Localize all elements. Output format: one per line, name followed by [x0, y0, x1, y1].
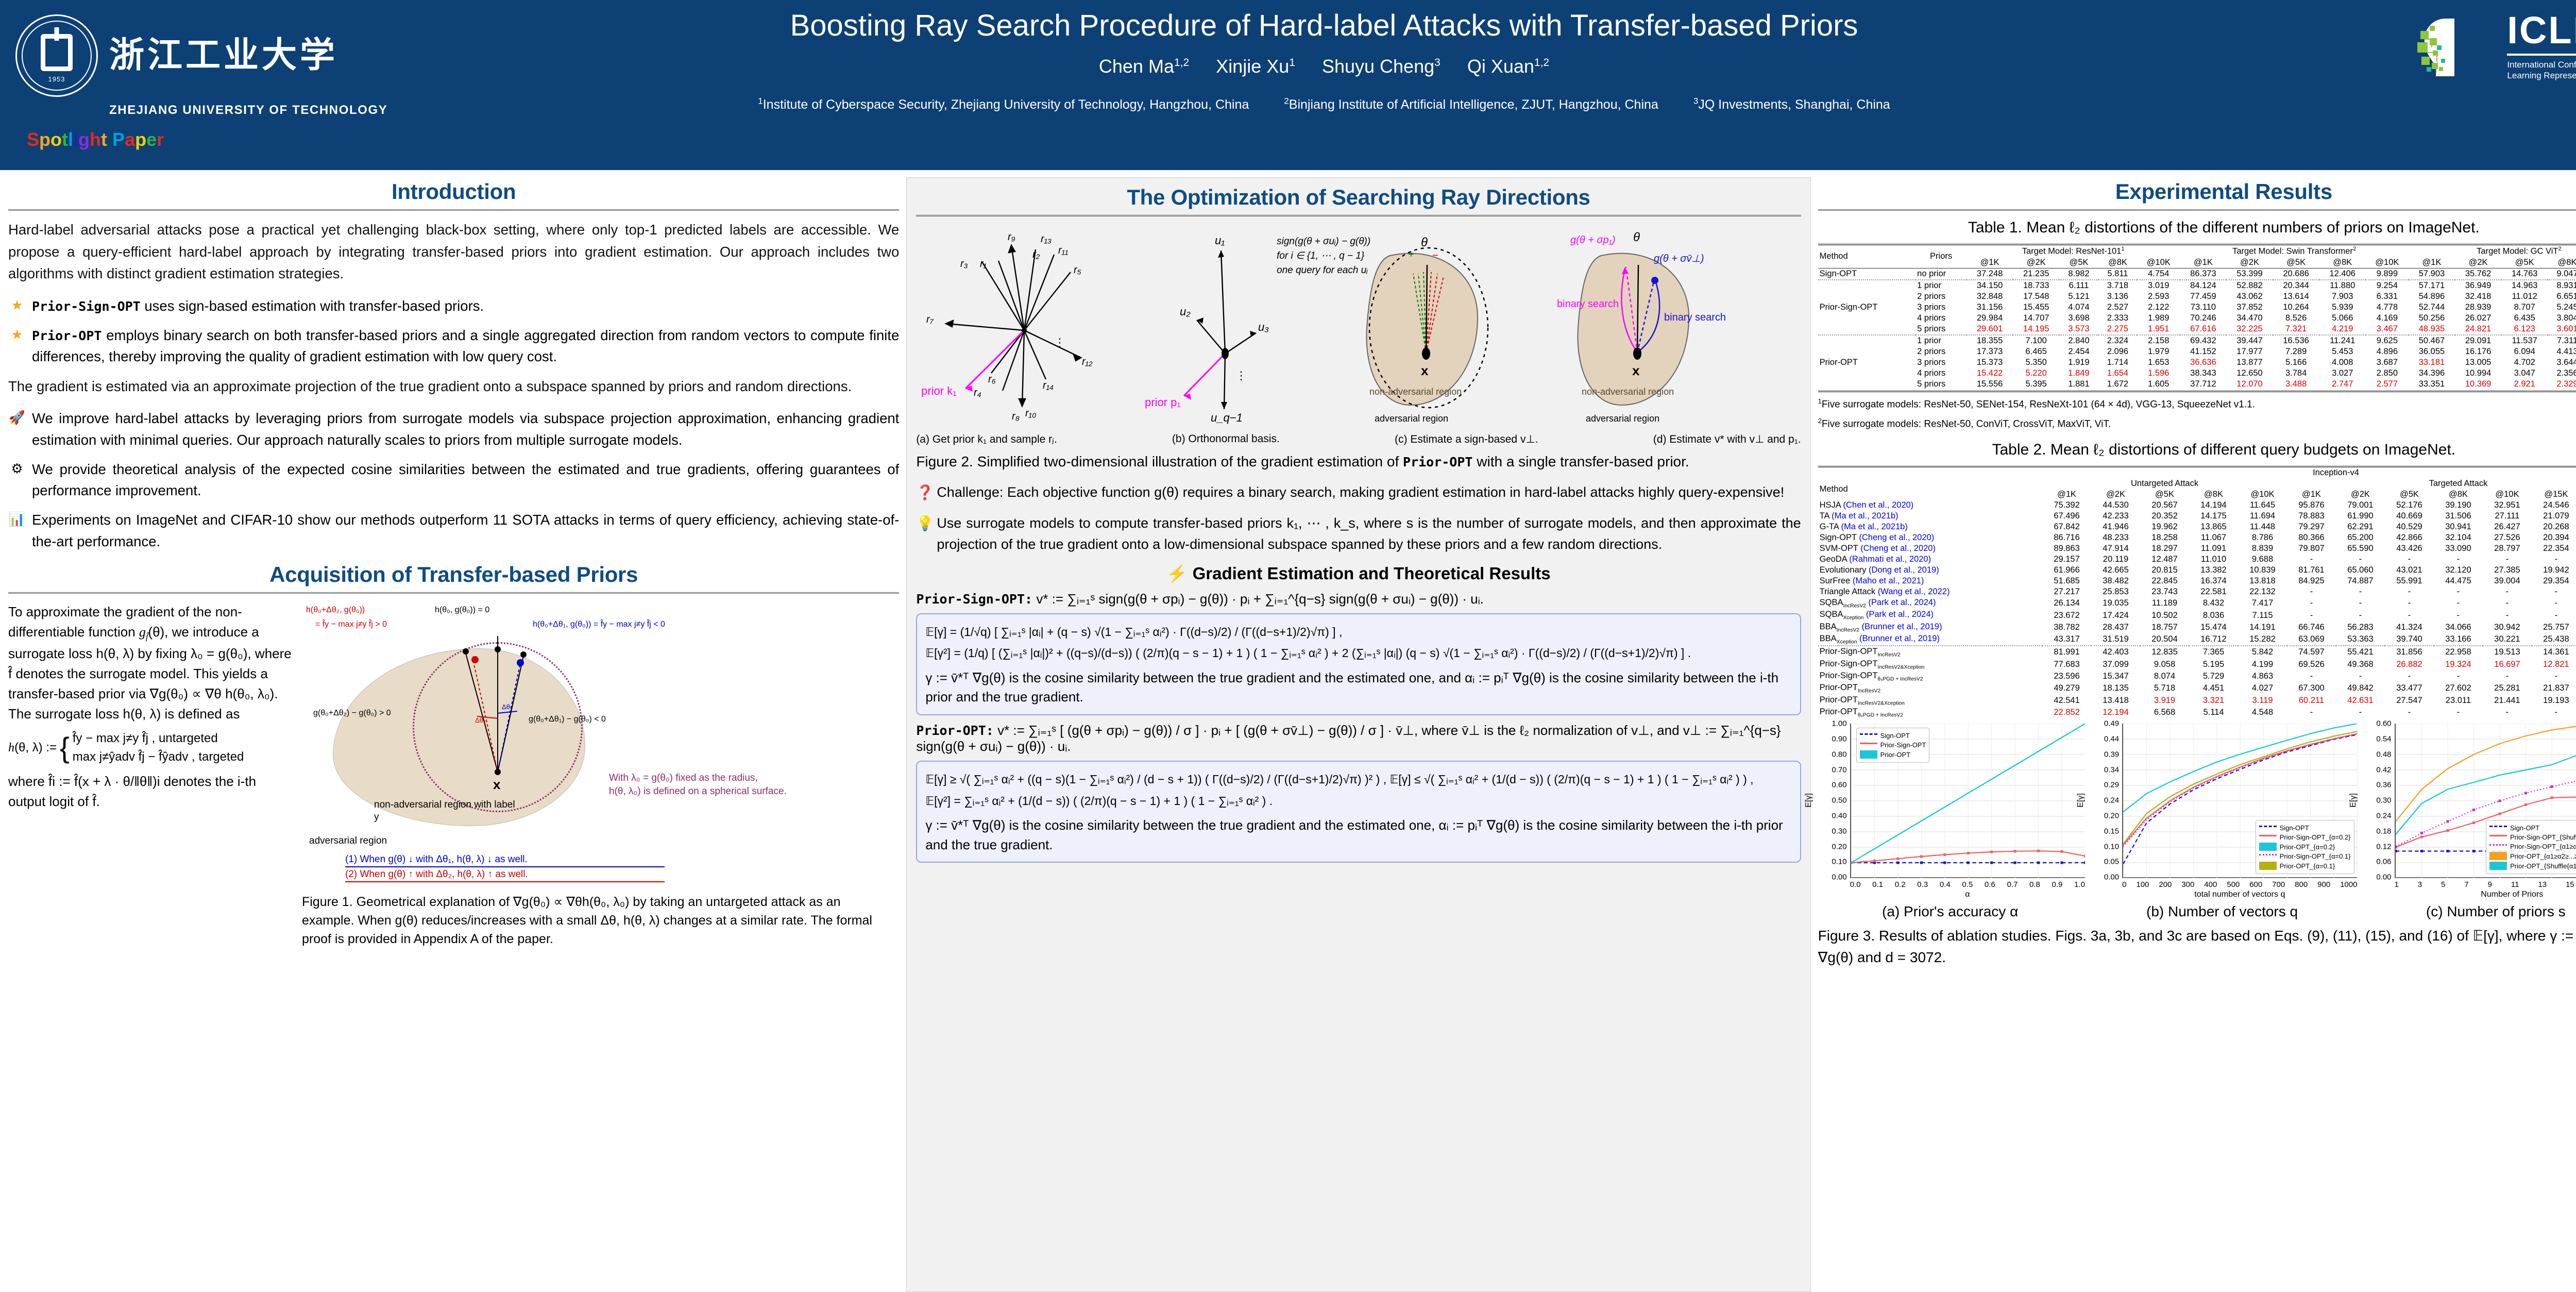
- contribution-bullet: ⚙We provide theoretical analysis of the …: [8, 459, 899, 501]
- table-cell: 15.422: [1967, 368, 2013, 379]
- table-cell: 5.453: [2319, 346, 2366, 357]
- table-cell: 3.718: [2098, 280, 2137, 291]
- y-tick: 0.00: [2104, 873, 2119, 882]
- table-cell: -: [2287, 609, 2336, 621]
- table-cell: -: [2336, 554, 2385, 565]
- table-cell: 21.837: [2532, 682, 2576, 694]
- table-cell: 30.941: [2434, 522, 2483, 532]
- table-cell: 6.331: [2366, 291, 2409, 302]
- table-cell: -: [2385, 707, 2434, 718]
- table-cell: 16.536: [2273, 335, 2319, 346]
- table-cell: 40.669: [2385, 511, 2434, 522]
- table-cell: 17.548: [2013, 291, 2059, 302]
- table-cell: 37.712: [2180, 379, 2226, 390]
- university-name-en: ZHEJIANG UNIVERSITY OF TECHNOLOGY: [109, 103, 453, 118]
- legend-swatch: [2259, 843, 2277, 851]
- table-cell: 33.181: [2409, 357, 2455, 368]
- idea-bullet: 💡 Use surrogate models to compute transf…: [916, 513, 1801, 555]
- table-cell: 33.351: [2409, 379, 2455, 390]
- table-cell: 38.343: [2180, 368, 2226, 379]
- y-tick: 0.34: [2104, 765, 2119, 774]
- legend-label: Prior-Sign-OPT: [1880, 741, 1926, 749]
- table-cell: 32.120: [2434, 565, 2483, 576]
- x-tick: 0.8: [2029, 880, 2040, 889]
- table-cell: 5.166: [2273, 357, 2319, 368]
- table-cell: 12.194: [2091, 707, 2140, 718]
- table-cell: 34.150: [1967, 280, 2013, 291]
- svg-text:sign(g(θ + σu: sign(g(θ + σu: [1277, 236, 1334, 247]
- table-cell: 27.111: [2483, 511, 2532, 522]
- method-name: Prior-Sign-OPTIncResV2: [1820, 647, 1901, 656]
- table-cell: 13.818: [2238, 576, 2287, 586]
- fig1-label-purple-2: h(θ, λ₀) is defined on a spherical surfa…: [609, 785, 787, 798]
- affiliation: 3JQ Investments, Shanghai, China: [1693, 97, 1890, 112]
- svg-text:one query for each uᵢ: one query for each uᵢ: [1277, 265, 1368, 276]
- table-cell: 19.962: [2140, 522, 2189, 532]
- x-tick: 900: [2317, 880, 2330, 889]
- legend-label: Prior-Sign-OPT_{α=0.2}: [2280, 833, 2351, 841]
- table-row: SVM-OPT (Cheng et al., 2020)89.86347.914…: [1818, 543, 2576, 554]
- note-1-sup: 1: [1818, 397, 1822, 405]
- table-cell: 6.435: [2501, 313, 2548, 324]
- table-cell: 2.840: [2059, 335, 2098, 346]
- theorem-box-opt: 𝔼[γ] ≥ √( ∑ᵢ₌₁ˢ αᵢ² + ((q − s)(1 − ∑ᵢ₌₁ˢ…: [916, 761, 1801, 863]
- x-tick: 0.1: [1872, 880, 1883, 889]
- table-cell: 79.807: [2287, 543, 2336, 554]
- table-cell: 28.797: [2483, 543, 2532, 554]
- challenge-bullet: ❓ Challenge: Each objective function g(θ…: [916, 482, 1801, 504]
- table-cell: 2.122: [2137, 302, 2180, 313]
- legend-label: Prior-Sign-OPT_{Shuffle{α1,α2,...,αs}}: [2510, 833, 2576, 841]
- table-cell: 42.866: [2385, 532, 2434, 543]
- table-cell: 11.448: [2238, 522, 2287, 532]
- table-cell: 1.951: [2137, 324, 2180, 335]
- table-1-caption: Table 1. Mean ℓ₂ distortions of the diff…: [1818, 219, 2576, 237]
- table-1-budget-header: @5K: [2273, 257, 2319, 269]
- table-cell: 22.581: [2189, 586, 2238, 597]
- table-cell: -: [2532, 554, 2576, 565]
- svg-text:r₄: r₄: [974, 387, 981, 398]
- citation: (Brunner et al., 2019): [1859, 634, 1940, 643]
- table-cell: 27.602: [2434, 682, 2483, 694]
- legend-entry: Prior-OPT_{α=0.2}: [2259, 843, 2351, 851]
- svg-text:r₈: r₈: [1012, 411, 1020, 422]
- table-cell: 2.333: [2098, 313, 2137, 324]
- table-cell: 32.225: [2226, 324, 2273, 335]
- table-cell: 18.733: [2013, 280, 2059, 291]
- table-cell: 65.590: [2336, 543, 2385, 554]
- eq-box2-note: γ := v̄*ᵀ ∇g(θ) is the cosine similarity…: [925, 816, 1791, 854]
- method-name: SQBAXception: [1820, 610, 1864, 619]
- table-cell: 31.506: [2434, 511, 2483, 522]
- figure-2-subcaption: (d) Estimate v* with v⊥ and p₁.: [1653, 433, 1801, 446]
- table-cell: 41.946: [2091, 522, 2140, 532]
- table-cell: 38.482: [2091, 576, 2140, 586]
- table-cell: 4.778: [2366, 302, 2409, 313]
- svg-text:r₉: r₉: [1008, 231, 1015, 243]
- table-cell: 14.175: [2189, 511, 2238, 522]
- table-cell: 28.939: [2455, 302, 2501, 313]
- table-cell: 5.729: [2189, 670, 2238, 682]
- method-name: Prior-Sign-OPTIncResV2&Xception: [1820, 659, 1925, 668]
- equation-prior-sign-opt: Prior-Sign-OPT: v* := ∑ᵢ₌₁ˢ sign(g(θ + σ…: [916, 591, 1801, 607]
- method-name: Prior-OPTθ₀PGD + IncResV2: [1820, 707, 1903, 716]
- y-axis-label: E[γ]: [2076, 793, 2086, 808]
- table-cell: 44.475: [2434, 576, 2483, 586]
- table-cell: 13.877: [2226, 357, 2273, 368]
- x-tick: 7: [2464, 880, 2468, 889]
- y-tick: 0.12: [2376, 842, 2391, 851]
- table-cell: 15.347: [2091, 670, 2140, 682]
- table-cell: 48.233: [2091, 532, 2140, 543]
- table-cell: 12.070: [2226, 379, 2273, 390]
- eq-name-prior-sign-opt: Prior-Sign-OPT:: [916, 592, 1032, 607]
- fig1-label-red-1: h(θ₀+Δθ₂, g(θ₀)): [306, 605, 365, 615]
- table-cell: 55.421: [2336, 646, 2385, 658]
- table-cell: 9.688: [2238, 554, 2287, 565]
- acq-case-targeted: max j≠ŷadv f̂j − f̂ŷadv , targeted: [73, 748, 244, 766]
- legend-label: Sign-OPT: [1880, 732, 1910, 740]
- table-cell: 10.994: [2455, 368, 2501, 379]
- table-cell: 1.849: [2059, 368, 2098, 379]
- fig1-note-1: (1) When g(θ) ↓ with Δθ₁, h(θ, λ) ↓ as w…: [345, 854, 665, 867]
- table-row: Prior-Sign-OPTIncResV281.99142.40312.835…: [1818, 646, 2576, 658]
- method-name: Prior-OPTIncResV2: [1820, 683, 1881, 692]
- table-1-budget-header: @8K: [2098, 257, 2137, 269]
- table-row: Prior-OPTθ₀PGD + IncResV222.85212.1946.5…: [1818, 707, 2576, 718]
- eq-box1-line1: 𝔼[γ] = (1/√q) [ ∑ᵢ₌₁ˢ |αᵢ| + (q − s) √(1…: [925, 622, 1791, 643]
- table-cell: 56.283: [2336, 622, 2385, 633]
- table-cell: 2.356: [2548, 368, 2576, 379]
- table-1-group-header: Target Model: ResNet-1011: [1967, 245, 2180, 257]
- table-cell: 18.757: [2140, 622, 2189, 633]
- table-cell: -: [2336, 707, 2385, 718]
- table-cell: 1.989: [2137, 313, 2180, 324]
- svg-text:g(θ + σv̄⊥): g(θ + σv̄⊥): [1654, 253, 1704, 264]
- author-name: Qi Xuan1,2: [1467, 56, 1549, 77]
- table-row: 2 priors32.84817.5485.1213.1362.59377.45…: [1818, 291, 2576, 302]
- table-cell: 9.899: [2366, 268, 2409, 280]
- table-cell: 13.005: [2455, 357, 2501, 368]
- chart-icon: 📊: [8, 509, 26, 552]
- table-cell: 74.597: [2287, 646, 2336, 658]
- table-cell: -: [2287, 554, 2336, 565]
- table-cell: 35.762: [2455, 268, 2501, 280]
- legend-entry: Prior-OPT: [1860, 750, 1926, 759]
- table-cell: 22.852: [2042, 707, 2091, 718]
- table-cell: 3.321: [2189, 695, 2238, 707]
- table-cell: 5.066: [2319, 313, 2366, 324]
- table-cell: 25.281: [2483, 682, 2532, 694]
- x-axis-label: Number of Priors: [2395, 890, 2576, 899]
- legend-swatch: [2259, 854, 2277, 859]
- table-cell: 5.245: [2548, 302, 2576, 313]
- table-cell: 42.541: [2042, 695, 2091, 707]
- table-2-group-targeted: Targeted Attack: [2287, 478, 2576, 489]
- table-2: Inception-v4MethodUntargeted AttackTarge…: [1818, 466, 2576, 718]
- citation: (Brunner et al., 2019): [1862, 622, 1942, 631]
- star-icon: ★: [8, 325, 26, 367]
- table-cell: 9.625: [2366, 335, 2409, 346]
- table-cell: 23.596: [2042, 670, 2091, 682]
- table-cell: -: [2532, 597, 2576, 609]
- acq-case-untargeted: f̂y − max j≠y f̂j , untargeted: [73, 729, 244, 748]
- table-cell: 29.601: [1967, 324, 2013, 335]
- legend-swatch: [1860, 733, 1877, 738]
- x-axis-ticks: 0.00.10.20.30.40.50.60.70.80.91.0: [1850, 880, 2085, 889]
- figure-2: r₉ r₁₃ r₂ r₁₁ r₃ r₁ r₅ r₇ r₁₂ r₁₄ r₆ r₄ …: [916, 225, 1801, 431]
- legend-swatch: [2259, 835, 2277, 840]
- x-tick: 0.7: [2007, 880, 2018, 889]
- table-cell: 2.527: [2098, 302, 2137, 313]
- x-tick: 5: [2441, 880, 2445, 889]
- table-1-budget-header: @2K: [2226, 257, 2273, 269]
- seal-year: 1953: [48, 75, 65, 83]
- table-cell: 80.366: [2287, 532, 2336, 543]
- citation: (Cheng et al., 2020): [1859, 533, 1934, 542]
- table-cell: 8.036: [2189, 609, 2238, 621]
- figure-3-subcaption: (b) Number of vectors q: [2146, 903, 2298, 920]
- table-cell: 12.406: [2319, 268, 2366, 280]
- table-row: Prior-Sign-OPTθ₀PGD + IncResV223.59615.3…: [1818, 670, 2576, 682]
- contribution-bullet: 🚀We improve hard-label attacks by levera…: [8, 408, 899, 450]
- table-2-budget-header: @2K: [2091, 489, 2140, 500]
- legend-entry: Sign-OPT: [1860, 732, 1926, 740]
- table-cell: 47.914: [2091, 543, 2140, 554]
- affiliation-list: 1Institute of Cyberspace Security, Zheji…: [577, 96, 2071, 112]
- table-2-budget-header: @8K: [2189, 489, 2238, 500]
- x-tick: 13: [2538, 880, 2547, 889]
- table-cell: 11.537: [2501, 335, 2548, 346]
- legend-entry: Prior-Sign-OPT_{α1≥α2≥...≥αs}: [2489, 843, 2576, 850]
- table-cell: 40.529: [2385, 522, 2434, 532]
- legend-swatch: [2259, 826, 2277, 830]
- table-cell: 3.027: [2319, 368, 2366, 379]
- table-2-budget-header: @10K: [2483, 489, 2532, 500]
- eq-box1-note: γ := v̄*ᵀ ∇g(θ) is the cosine similarity…: [925, 668, 1791, 707]
- fig1-label-right-expr: g(θ₀+Δθ₁) − g(θ₀) < 0: [529, 714, 606, 725]
- page-title: Boosting Ray Search Procedure of Hard-la…: [577, 8, 2071, 43]
- table-cell: 1.919: [2059, 357, 2098, 368]
- table-cell: 31.519: [2091, 633, 2140, 646]
- table-2-budget-header: @15K: [2532, 489, 2576, 500]
- table-cell: 42.665: [2091, 565, 2140, 576]
- y-tick: 0.05: [2104, 858, 2119, 866]
- table-cell: 54.896: [2409, 291, 2455, 302]
- divider: [8, 209, 899, 211]
- gradient-estimation-heading: ⚡ Gradient Estimation and Theoretical Re…: [916, 564, 1801, 584]
- plot-area: E[γ]0.000.050.100.150.200.240.290.340.39…: [2122, 724, 2357, 878]
- table-cell: 2.324: [2098, 335, 2137, 346]
- table-row: BBAXception (Brunner et al., 2019)43.317…: [1818, 633, 2576, 646]
- table-cell: -: [2336, 670, 2385, 682]
- table-cell: 18.258: [2140, 532, 2189, 543]
- table-2-model-header: Inception-v4: [2042, 467, 2576, 479]
- table-cell: 16.374: [2189, 576, 2238, 586]
- y-tick: 0.20: [2104, 811, 2119, 820]
- method-name: Evolutionary: [1820, 565, 1867, 575]
- table-row: 2 priors17.3736.4652.4542.0961.97941.152…: [1818, 346, 2576, 357]
- table-cell: 25.757: [2532, 622, 2576, 633]
- table-2-budget-header: @5K: [2140, 489, 2189, 500]
- svg-text:r₆: r₆: [988, 374, 996, 385]
- table-cell: 44.530: [2091, 500, 2140, 511]
- y-tick: 0.20: [1832, 842, 1846, 851]
- table-cell: -: [2385, 670, 2434, 682]
- table-row: Triangle Attack (Wang et al., 2022)27.21…: [1818, 586, 2576, 597]
- section-title-optimization: The Optimization of Searching Ray Direct…: [916, 183, 1801, 215]
- table-cell: 3.467: [2366, 324, 2409, 335]
- table-row: 4 priors29.98414.7073.6982.3331.98970.24…: [1818, 313, 2576, 324]
- divider: [8, 592, 899, 594]
- affiliation: 1Institute of Cyberspace Security, Zheji…: [758, 97, 1249, 112]
- method-name: TA: [1820, 511, 1829, 521]
- svg-text:adversarial region: adversarial region: [1375, 413, 1448, 424]
- figure-2-subcaption: (a) Get prior k₁ and sample rⱼ.: [916, 433, 1057, 446]
- table-cell: 18.355: [1967, 335, 2013, 346]
- table-cell: 12.650: [2226, 368, 2273, 379]
- table-cell: 37.852: [2226, 302, 2273, 313]
- fig1-label-left-expr: g(θ₀+Δθ₂) − g(θ₀) > 0: [313, 708, 391, 718]
- fig2-caption-mono: Prior-OPT: [1403, 455, 1472, 469]
- iclr-head-icon: [2416, 15, 2494, 77]
- table-cell: 5.350: [2013, 357, 2059, 368]
- table-cell: 65.200: [2336, 532, 2385, 543]
- table-1-budget-header: @5K: [2059, 257, 2098, 269]
- table-cell: -: [2434, 586, 2483, 597]
- table-cell: 95.876: [2287, 500, 2336, 511]
- x-tick: 0.5: [1962, 880, 1973, 889]
- table-cell: 27.547: [2385, 695, 2434, 707]
- x-tick: 3: [2418, 880, 2422, 889]
- table-cell: 67.842: [2042, 522, 2091, 532]
- table-cell: 89.863: [2042, 543, 2091, 554]
- table-2-budget-header: @1K: [2287, 489, 2336, 500]
- x-axis-label: total number of vectors q: [2122, 890, 2357, 899]
- y-tick: 0.39: [2104, 750, 2119, 759]
- table-cell: 4.074: [2059, 302, 2098, 313]
- table-cell: 6.111: [2059, 280, 2098, 291]
- table-cell: 32.104: [2434, 532, 2483, 543]
- chart-3: E[γ]0.000.060.120.180.240.300.360.420.48…: [2363, 724, 2576, 899]
- x-tick: 0: [2122, 880, 2126, 889]
- table-1-budget-header: @5K: [2501, 257, 2548, 269]
- table-2-budget-header: @8K: [2434, 489, 2483, 500]
- table-cell: 4.896: [2366, 346, 2409, 357]
- table-cell: 21.079: [2532, 511, 2576, 522]
- y-tick: 0.60: [2376, 719, 2391, 728]
- table-cell: 15.474: [2189, 622, 2238, 633]
- table-cell: 33.090: [2434, 543, 2483, 554]
- figure-3-subcaption: (a) Prior's accuracy α: [1882, 903, 2018, 920]
- table-2-budget-header: @10K: [2238, 489, 2287, 500]
- table-cell: 52.744: [2409, 302, 2455, 313]
- y-tick: 0.50: [1832, 796, 1846, 805]
- legend-entry: Prior-Sign-OPT: [1860, 741, 1926, 749]
- svg-text:r₁₄: r₁₄: [1043, 380, 1054, 391]
- table-cell: 52.882: [2226, 280, 2273, 291]
- table-cell: 8.526: [2273, 313, 2319, 324]
- table-cell: -: [2287, 597, 2336, 609]
- table-cell: 29.091: [2455, 335, 2501, 346]
- table-cell: 6.651: [2548, 291, 2576, 302]
- table-cell: 37.248: [1967, 268, 2013, 280]
- plot-area: E[γ]0.000.060.120.180.240.300.360.420.48…: [2395, 724, 2576, 878]
- table-cell: 84.124: [2180, 280, 2226, 291]
- table-cell: 86.373: [2180, 268, 2226, 280]
- table-cell: -: [2532, 670, 2576, 682]
- iclr-subtitle-line1: International Conference On: [2507, 59, 2576, 70]
- svg-text:x: x: [1632, 363, 1640, 378]
- plot-area: E[γ]0.000.100.200.300.400.500.600.700.80…: [1850, 724, 2085, 878]
- table-cell: -: [2434, 609, 2483, 621]
- table-cell: 24.821: [2455, 324, 2501, 335]
- table-cell: 37.099: [2091, 659, 2140, 670]
- table-cell: 42.403: [2091, 646, 2140, 658]
- legend-label: Prior-OPT: [1880, 751, 1911, 759]
- table-cell: -: [2434, 670, 2483, 682]
- fig1-label-adv-region: adversarial region: [309, 835, 387, 847]
- table-cell: 14.194: [2189, 500, 2238, 511]
- table-cell: 1.596: [2137, 368, 2180, 379]
- svg-text:ᵢ) − g(θ)): ᵢ) − g(θ)): [1334, 236, 1370, 247]
- table-cell: -: [2287, 586, 2336, 597]
- table-cell: -: [2336, 597, 2385, 609]
- table-row: Prior-OPTIncResV249.27918.1355.7184.4514…: [1818, 682, 2576, 694]
- table-cell: 4.027: [2238, 682, 2287, 694]
- citation: (Maho et al., 2021): [1853, 576, 1924, 585]
- svg-text:r₁₁: r₁₁: [1058, 245, 1068, 256]
- table-row: 5 priors15.5565.3951.8811.6721.60537.712…: [1818, 379, 2576, 390]
- svg-text:binary search: binary search: [1664, 312, 1726, 323]
- x-tick: 1: [2395, 880, 2399, 889]
- divider: [916, 215, 1801, 216]
- table-cell: 2.275: [2098, 324, 2137, 335]
- contribution-bullet: 📊Experiments on ImageNet and CIFAR-10 sh…: [8, 509, 899, 552]
- table-cell: 55.991: [2385, 576, 2434, 586]
- table-cell: 51.685: [2042, 576, 2091, 586]
- table-1-budget-header: @8K: [2548, 257, 2576, 269]
- svg-text:r₁₀: r₁₀: [1025, 408, 1036, 419]
- method-name: HSJA: [1820, 500, 1841, 510]
- legend-label: Prior-OPT_{α=0.1}: [2280, 862, 2335, 870]
- table-cell: 13.865: [2189, 522, 2238, 532]
- y-tick: 0.70: [1832, 765, 1846, 774]
- legend-entry: Prior-Sign-OPT_{α=0.1}: [2259, 852, 2351, 860]
- iclr-logo-block: ICLR International Conference On Learnin…: [2416, 11, 2576, 81]
- figure-3-subcaption: (c) Number of priors s: [2426, 903, 2566, 920]
- table-cell: 1.714: [2098, 357, 2137, 368]
- table-cell: 62.291: [2336, 522, 2385, 532]
- table-cell: 14.361: [2532, 646, 2576, 658]
- svg-text:g(θ + σp₁): g(θ + σp₁): [1570, 234, 1616, 246]
- author-name: Chen Ma1,2: [1099, 56, 1189, 77]
- table-cell: 22.354: [2532, 543, 2576, 554]
- table-cell: 4.548: [2238, 707, 2287, 718]
- table-cell: 2.096: [2098, 346, 2137, 357]
- table-cell: 3.488: [2273, 379, 2319, 390]
- citation: (Ma et al., 2021b): [1832, 511, 1898, 521]
- legend-swatch: [1860, 743, 1877, 747]
- x-axis-ticks: 135791113151719: [2395, 880, 2576, 889]
- acquisition-text: To approximate the gradient of the non-d…: [8, 602, 297, 949]
- legend-label: Prior-OPT_{α1≥α2≥...≥αs}: [2510, 852, 2576, 860]
- table-cell: 3.119: [2238, 695, 2287, 707]
- table-cell: 11.067: [2189, 532, 2238, 543]
- svg-text:r₅: r₅: [1074, 264, 1081, 276]
- table-cell: 41.324: [2385, 622, 2434, 633]
- fig1-label-purple-1: With λ₀ = g(θ₀) fixed as the radius,: [609, 772, 758, 784]
